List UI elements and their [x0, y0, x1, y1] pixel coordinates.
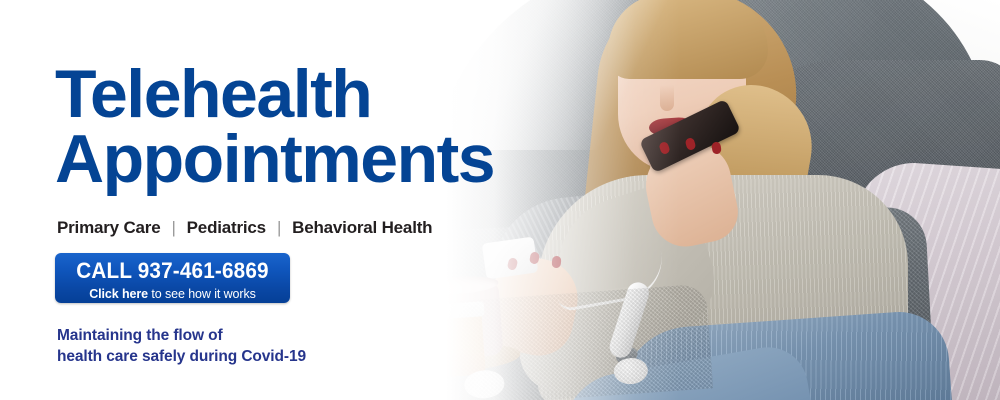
- hair-front: [608, 0, 768, 79]
- services-list: Primary Care|Pediatrics|Behavioral Healt…: [57, 218, 432, 238]
- banner-content: Telehealth Appointments Primary Care|Ped…: [0, 0, 620, 400]
- telehealth-banner: Telehealth Appointments Primary Care|Ped…: [0, 0, 1000, 400]
- tagline-line-2: health care safely during Covid-19: [57, 346, 306, 367]
- cta-subtext-rest: to see how it works: [151, 287, 255, 301]
- call-cta-button[interactable]: CALL 937-461-6869 Click here to see how …: [55, 253, 290, 303]
- cta-here-link[interactable]: here: [122, 287, 148, 301]
- cta-subtext-click: Click: [89, 287, 118, 301]
- tagline: Maintaining the flow of health care safe…: [57, 325, 306, 368]
- cta-subtext[interactable]: Click here to see how it works: [55, 284, 290, 301]
- nose: [660, 85, 674, 111]
- service-pediatrics: Pediatrics: [187, 218, 266, 237]
- service-separator: |: [277, 218, 281, 237]
- service-behavioral-health: Behavioral Health: [292, 218, 432, 237]
- service-primary-care: Primary Care: [57, 218, 160, 237]
- cta-phone-number[interactable]: CALL 937-461-6869: [62, 253, 283, 284]
- tagline-line-1: Maintaining the flow of: [57, 327, 223, 344]
- headline-line-2: Appointments: [55, 127, 494, 192]
- service-separator: |: [171, 218, 175, 237]
- page-title: Telehealth Appointments: [55, 62, 494, 191]
